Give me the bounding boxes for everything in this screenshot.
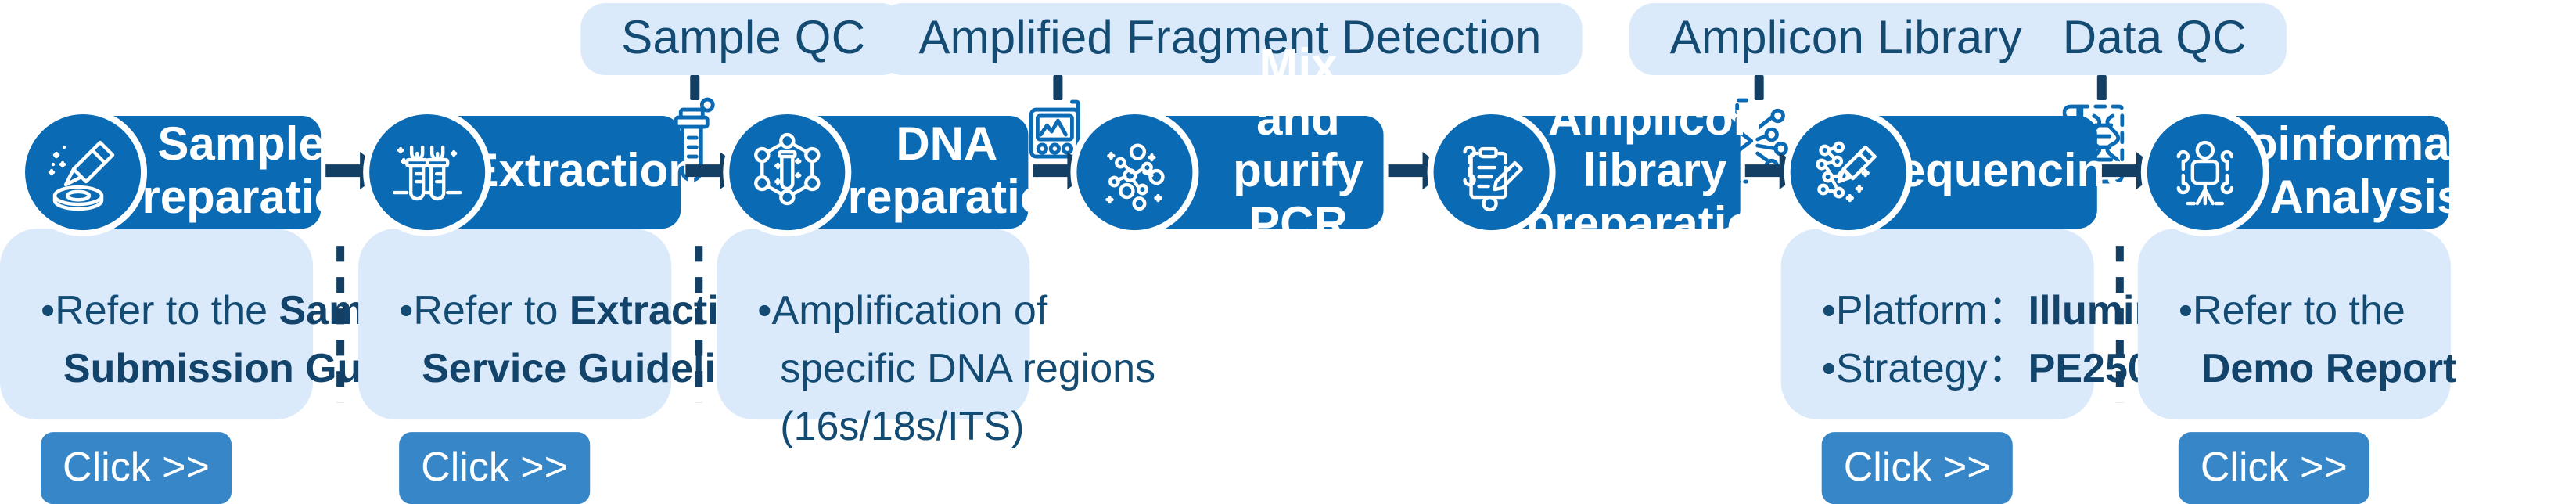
qc-callout-label: Data QC	[2063, 16, 2247, 63]
analyst-person-icon	[2166, 133, 2244, 211]
info-line: •Amplification of	[757, 282, 989, 340]
pipette-dish-icon	[44, 133, 122, 211]
info-line: Service Guidelines	[399, 340, 631, 398]
click-button[interactable]: Click >>	[399, 432, 590, 504]
workflow-diagram: Sample QC Amplified Fragment Detection A…	[0, 0, 2576, 445]
info-panel-text: •Refer to Extraction Service Guidelines	[358, 282, 671, 398]
info-panel-extraction: •Refer to Extraction Service Guidelines …	[358, 229, 671, 419]
panel-divider-2	[695, 246, 702, 402]
info-line: •Refer to the Sample	[41, 282, 272, 340]
stage-badge-extraction	[363, 108, 491, 236]
info-panel-text: •Refer to the Sample Submission Guidelin…	[0, 282, 313, 398]
info-line: specific DNA regions	[757, 340, 989, 398]
panel-divider-1	[336, 246, 344, 402]
stage-badge-sequencing	[1784, 108, 1913, 236]
info-panel-sample-preparation: •Refer to the Sample Submission Guidelin…	[0, 229, 313, 419]
info-panel-bioinformatics-analysis: •Refer to the Demo Report Click >>	[2138, 229, 2451, 419]
click-button[interactable]: Click >>	[1822, 432, 2013, 504]
stage-badge-mix-purify	[1070, 108, 1198, 236]
panel-divider-3	[2116, 246, 2124, 402]
stage-badge-sample-preparation	[19, 108, 147, 236]
info-panel-text: •Amplification of specific DNA regions (…	[717, 282, 1029, 455]
info-panel-text: •Refer to the Demo Report	[2138, 282, 2451, 398]
click-button[interactable]: Click >>	[41, 432, 232, 504]
qc-callout-sample-qc[interactable]: Sample QC	[580, 3, 906, 75]
info-line: Submission Guidelines	[41, 340, 272, 398]
qc-callout-label: Sample QC	[621, 16, 865, 63]
info-panel-dna-preparation: •Amplification of specific DNA regions (…	[717, 229, 1029, 419]
clipboard-edit-icon	[1453, 133, 1531, 211]
info-line: •Strategy：PE250	[1822, 340, 2053, 398]
test-tubes-icon	[388, 133, 466, 211]
stage-badge-bioinformatics-analysis	[2141, 108, 2269, 236]
qc-callout-data-qc[interactable]: Data QC	[2022, 3, 2287, 75]
molecule-vial-icon	[746, 131, 828, 213]
molecules-mix-icon	[1095, 133, 1173, 211]
info-line: •Refer to the	[2179, 282, 2410, 340]
info-line: (16s/18s/ITS)	[757, 398, 989, 455]
info-panel-text: •Platform：Illumina •Strategy：PE250	[1781, 282, 2094, 398]
stage-badge-amplicon-library-preparation	[1428, 108, 1556, 236]
click-button[interactable]: Click >>	[2179, 432, 2369, 504]
info-line: •Platform：Illumina	[1822, 282, 2053, 340]
info-panel-sequencing: •Platform：Illumina •Strategy：PE250 Click…	[1781, 229, 2094, 419]
stage-badge-dna-preparation	[723, 108, 851, 236]
info-line: •Refer to Extraction	[399, 282, 631, 340]
info-line: Demo Report	[2179, 340, 2410, 398]
sequencing-pipette-icon	[1809, 133, 1888, 211]
